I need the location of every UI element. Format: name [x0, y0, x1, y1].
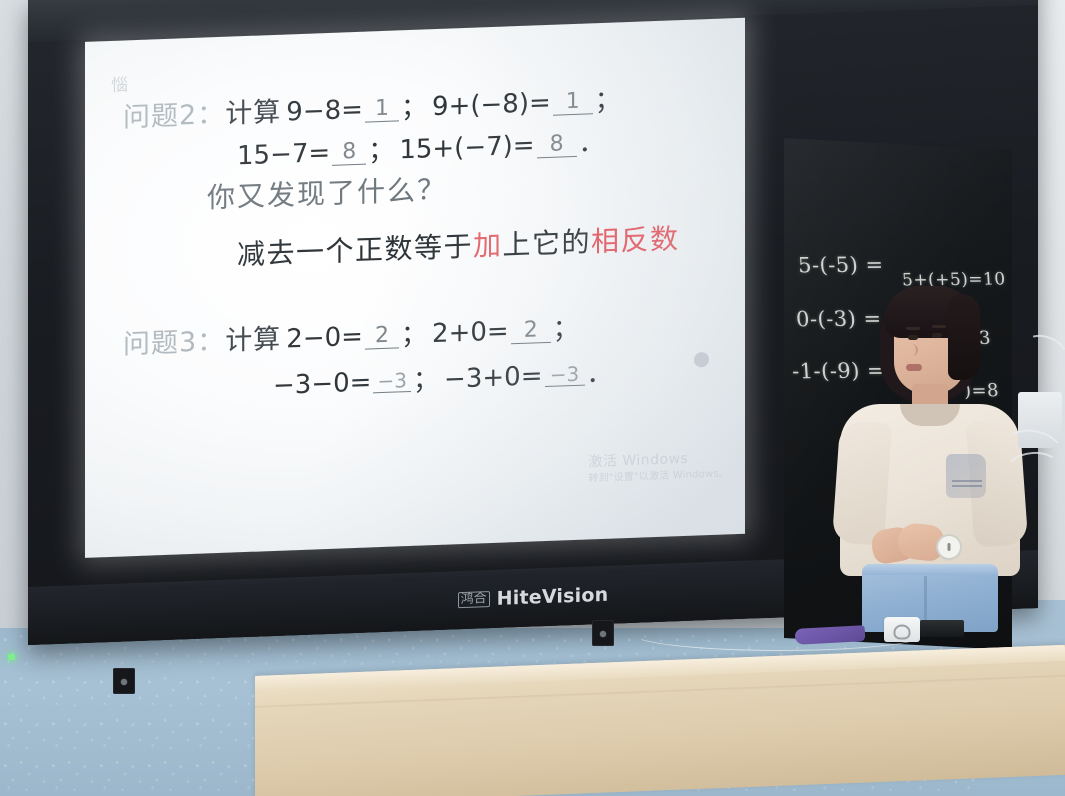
q3-l2-blank2[interactable]: −3	[545, 364, 585, 387]
classroom-scene: 鸿合 HiteVision 惱 问题2：计算 9−8=1； 9+(−8)=1； …	[0, 0, 1065, 796]
dark-device[interactable]	[920, 620, 964, 637]
q2-l1-expr2: 9+(−8)=	[432, 88, 551, 122]
q3-l1-blank2[interactable]: 2	[511, 319, 551, 344]
q2-label: 问题2：	[123, 99, 225, 134]
q2-l2-blank2[interactable]: 8	[537, 133, 577, 158]
q3-l2-expr1: −3−0=	[273, 367, 371, 401]
q3-label: 问题3：	[123, 326, 225, 361]
conclusion-plain-2: 上它的	[503, 225, 592, 261]
q2-l2-blank1[interactable]: 8	[332, 141, 366, 166]
eyebrow-left	[906, 327, 920, 330]
q3-calc-word: 计算	[225, 324, 281, 357]
q2-l1-sep2: ；	[595, 85, 621, 116]
q2-calc-word: 计算	[225, 97, 281, 130]
q3-l2-sep2: ．	[587, 359, 613, 390]
eye-right	[932, 333, 942, 339]
q3-l1-blank1[interactable]: 2	[365, 324, 399, 349]
sleeve-left	[832, 420, 892, 545]
board-bracket-center	[592, 620, 614, 646]
conclusion-red-2: 相反数	[591, 222, 680, 258]
q2-line2: 15−7=8； 15+(−7)=8．	[237, 126, 705, 171]
q3-line2: −3−0=−3； −3+0=−3．	[273, 357, 705, 399]
projection-screen[interactable]: 惱 问题2：计算 9−8=1； 9+(−8)=1； 15−7=8； 15+(−7…	[85, 18, 745, 558]
q2-l2-expr1: 15−7=	[237, 138, 330, 171]
windows-activation-watermark: 激活 Windows 转到"设置"以激活 Windows。	[588, 448, 729, 486]
conclusion-plain-1: 减去一个正数等于	[237, 230, 473, 272]
hair-side	[948, 294, 980, 380]
q2-l2-sep2: ．	[579, 128, 605, 159]
q3-l1-sep1: ；	[401, 319, 427, 350]
wrist-watch	[938, 536, 960, 558]
board-bracket-left	[113, 668, 135, 694]
q3-l1-sep2: ；	[553, 314, 579, 345]
podium-wood-grain	[255, 675, 1065, 796]
q3-l2-expr2: −3+0=	[444, 361, 542, 395]
white-container[interactable]	[884, 617, 920, 642]
q2-l1-sep1: ；	[401, 92, 427, 123]
chalk-line-1-left: 5-(-5) =	[797, 253, 884, 278]
shirt-graphic-print	[946, 454, 986, 498]
q3-l2-sep1: ；	[413, 365, 439, 396]
mouth	[906, 364, 922, 371]
q2-l1-blank1[interactable]: 1	[365, 97, 399, 122]
q2-l1-expr1: 9−8=	[286, 95, 363, 128]
eye-left	[908, 335, 918, 340]
q2-l2-sep1: ；	[368, 136, 394, 167]
presenter-figure	[836, 286, 1026, 631]
q2-line1: 问题2：计算 9−8=1； 9+(−8)=1；	[123, 83, 705, 133]
q3-l1-expr1: 2−0=	[286, 322, 363, 355]
conclusion-red-1: 加	[473, 229, 503, 263]
q2-l2-expr2: 15+(−7)=	[399, 130, 534, 165]
q3-line1: 问题3：计算 2−0=2； 2+0=2；	[123, 310, 705, 360]
status-led	[8, 654, 15, 660]
q2-prompt: 你又发现了什么？	[207, 166, 705, 212]
q3-l2-blank1[interactable]: −3	[373, 370, 410, 393]
q3-l1-expr2: 2+0=	[432, 316, 509, 349]
q2-conclusion: 减去一个正数等于加上它的相反数	[237, 224, 705, 269]
q2-l1-blank2[interactable]: 1	[553, 90, 593, 115]
eyebrow-right	[932, 325, 946, 328]
